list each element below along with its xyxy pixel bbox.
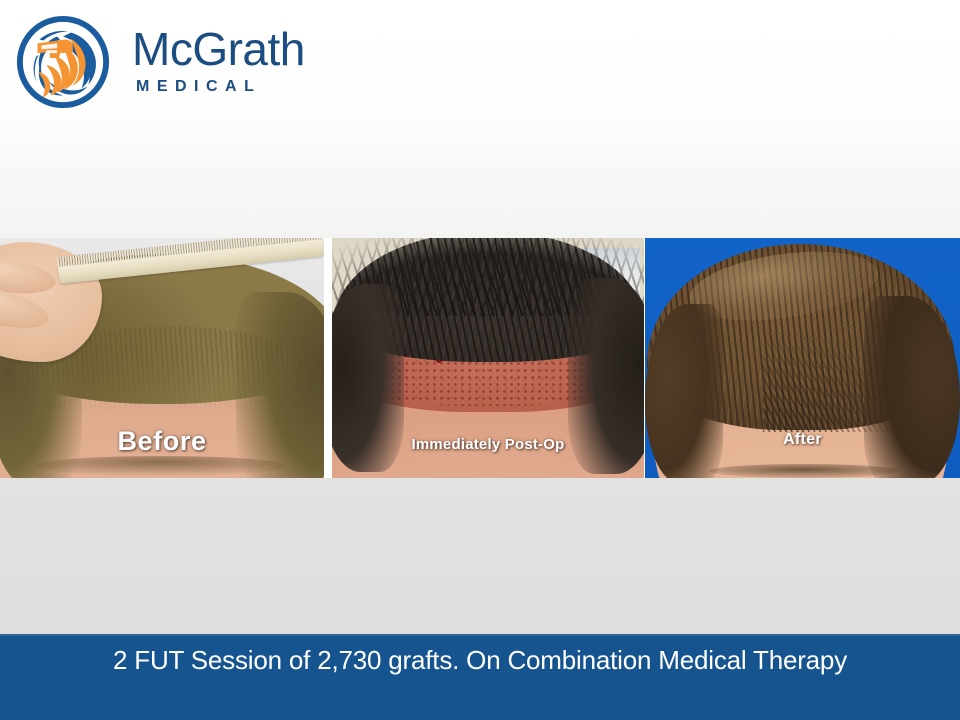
brand-subtitle: MEDICAL bbox=[136, 77, 332, 97]
lion-head-circle-logo-icon bbox=[14, 13, 112, 111]
caption-text: 2 FUT Session of 2,730 grafts. On Combin… bbox=[0, 645, 960, 676]
brand-name: McGrath bbox=[132, 24, 332, 74]
photo-before[interactable]: Before bbox=[0, 238, 324, 478]
hair-temple-right bbox=[568, 278, 644, 474]
eyebrow bbox=[709, 464, 899, 478]
lower-band bbox=[0, 478, 960, 634]
eyebrow bbox=[36, 456, 286, 476]
photo-strip: Before Immediately Post-Op bbox=[0, 238, 960, 478]
slide-canvas: McGrath MEDICAL Before bbox=[0, 0, 960, 720]
photo-after[interactable]: After bbox=[645, 238, 960, 478]
caption-bar: 2 FUT Session of 2,730 grafts. On Combin… bbox=[0, 634, 960, 720]
photo-post-op[interactable]: Immediately Post-Op bbox=[332, 238, 644, 478]
hair-temple-left bbox=[332, 284, 404, 472]
brand-wordmark: McGrath MEDICAL bbox=[132, 24, 332, 97]
brand-logo[interactable]: McGrath MEDICAL bbox=[14, 10, 314, 110]
